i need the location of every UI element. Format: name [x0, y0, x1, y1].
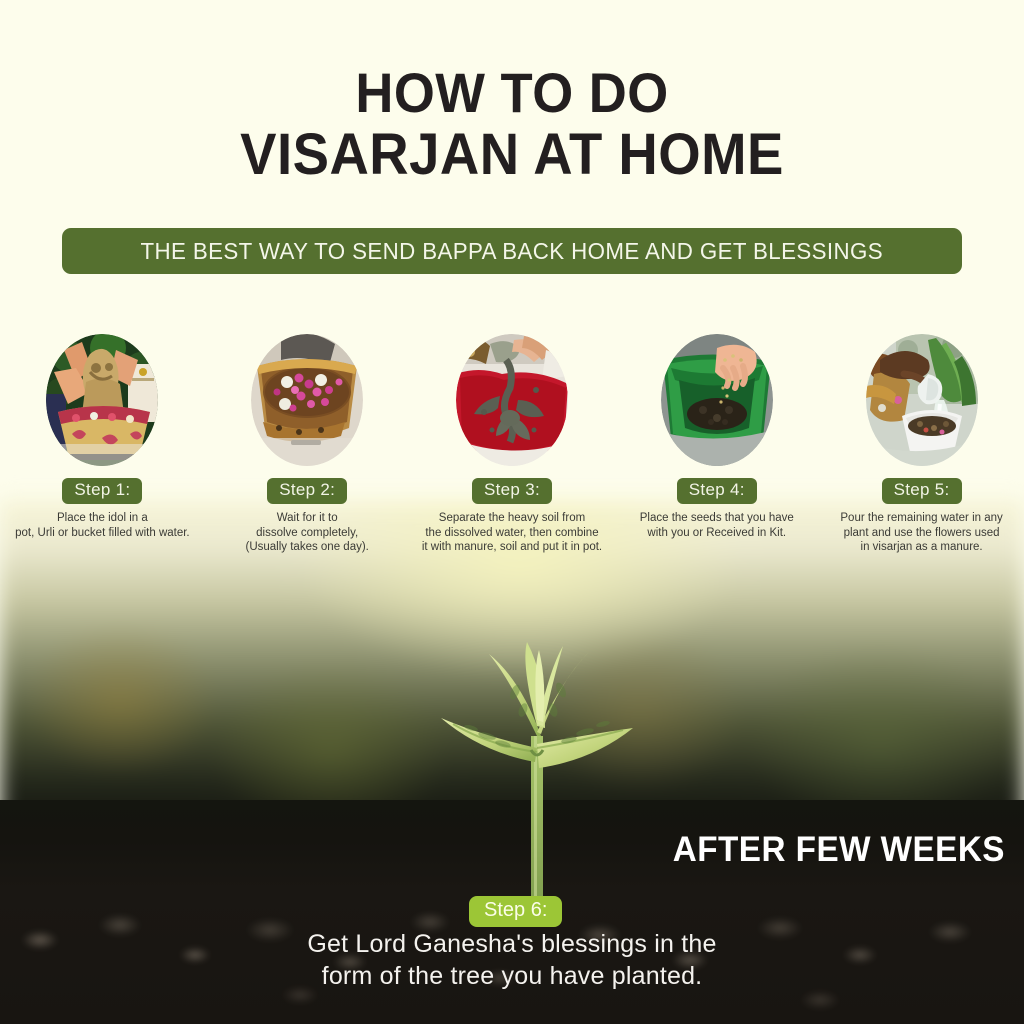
step-caption: Separate the heavy soil fromthe dissolve…: [414, 511, 610, 555]
step-item: Step 2: Wait for it todissolve completel…: [205, 334, 410, 555]
title-line-2: VISARJAN AT HOME: [31, 124, 994, 186]
final-caption: Get Lord Ganesha's blessings in the form…: [0, 928, 1024, 992]
final-caption-line-1: Get Lord Ganesha's blessings in the: [0, 928, 1024, 960]
step-item: Step 1: Place the idol in apot, Urli or …: [0, 334, 205, 555]
infographic-poster: HOW TO DO VISARJAN AT HOME THE BEST WAY …: [0, 0, 1024, 1024]
watering-plant-in-white-pot-photo: [866, 334, 978, 466]
pouring-soil-on-red-cloth-photo: [456, 334, 568, 466]
subtitle-banner: THE BEST WAY TO SEND BAPPA BACK HOME AND…: [62, 228, 962, 274]
step-badge: Step 1:: [62, 478, 142, 504]
step-caption: Wait for it todissolve completely,(Usual…: [209, 511, 405, 555]
step-badge: Step 2:: [267, 478, 347, 504]
step-caption: Pour the remaining water in anyplant and…: [824, 511, 1020, 555]
green-seedling-sprout-photo: [437, 640, 637, 910]
step-item: Step 5: Pour the remaining water in anyp…: [819, 334, 1024, 555]
final-caption-line-2: form of the tree you have planted.: [0, 960, 1024, 992]
step-item: Step 4: Place the seeds that you havewit…: [614, 334, 819, 555]
step-caption: Place the seeds that you havewith you or…: [619, 511, 815, 540]
step-badge: Step 4:: [677, 478, 757, 504]
step-badge: Step 5:: [882, 478, 962, 504]
sowing-seeds-in-green-planter-photo: [661, 334, 773, 466]
after-few-weeks-label: AFTER FEW WEEKS: [673, 830, 1005, 870]
steps-row: Step 1: Place the idol in apot, Urli or …: [0, 334, 1024, 555]
page-title: HOW TO DO VISARJAN AT HOME: [31, 62, 994, 186]
step-item: Step 3: Separate the heavy soil fromthe …: [410, 334, 615, 555]
ganesha-idol-in-urli-photo: [46, 334, 158, 466]
dissolved-idol-with-flowers-photo: [251, 334, 363, 466]
step-6-badge: Step 6:: [469, 896, 562, 927]
step-caption: Place the idol in apot, Urli or bucket f…: [4, 511, 200, 540]
step-badge: Step 3:: [472, 478, 552, 504]
title-line-1: HOW TO DO: [31, 62, 994, 124]
subtitle-text: THE BEST WAY TO SEND BAPPA BACK HOME AND…: [141, 238, 884, 265]
